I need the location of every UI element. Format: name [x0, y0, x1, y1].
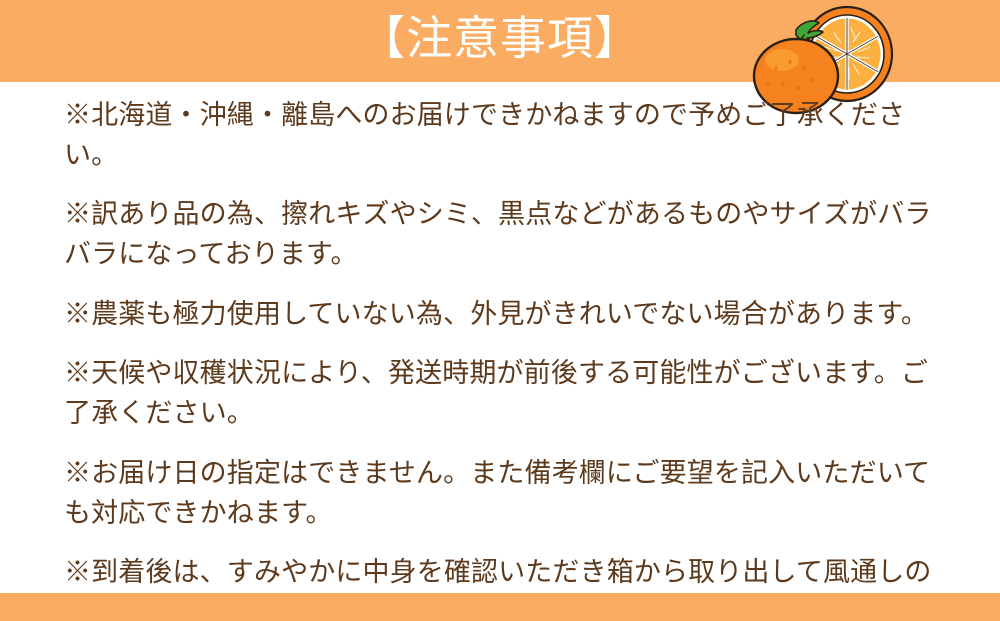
notice-item-1: ※北海道・沖縄・離島へのお届けできかねますので予めご了承ください。	[64, 96, 944, 175]
notice-item-4: ※天候や収穫状況により、発送時期が前後する可能性がございます。ご了承ください。	[64, 354, 944, 433]
page-title: 【注意事項】	[0, 0, 1000, 82]
notice-card: 【注意事項】	[0, 0, 1000, 621]
footer-bar	[0, 593, 1000, 621]
notice-item-3: ※農薬も極力使用していない為、外見がきれいでない場合があります。	[64, 295, 944, 335]
notice-list: ※北海道・沖縄・離島へのお届けできかねますので予めご了承ください。 ※訳あり品の…	[64, 96, 944, 621]
notice-item-5: ※お届け日の指定はできません。また備考欄にご要望を記入いただいても対応できかねま…	[64, 454, 944, 533]
notice-item-2: ※訳あり品の為、擦れキズやシミ、黒点などがあるものやサイズがバラバラになっており…	[64, 195, 944, 274]
